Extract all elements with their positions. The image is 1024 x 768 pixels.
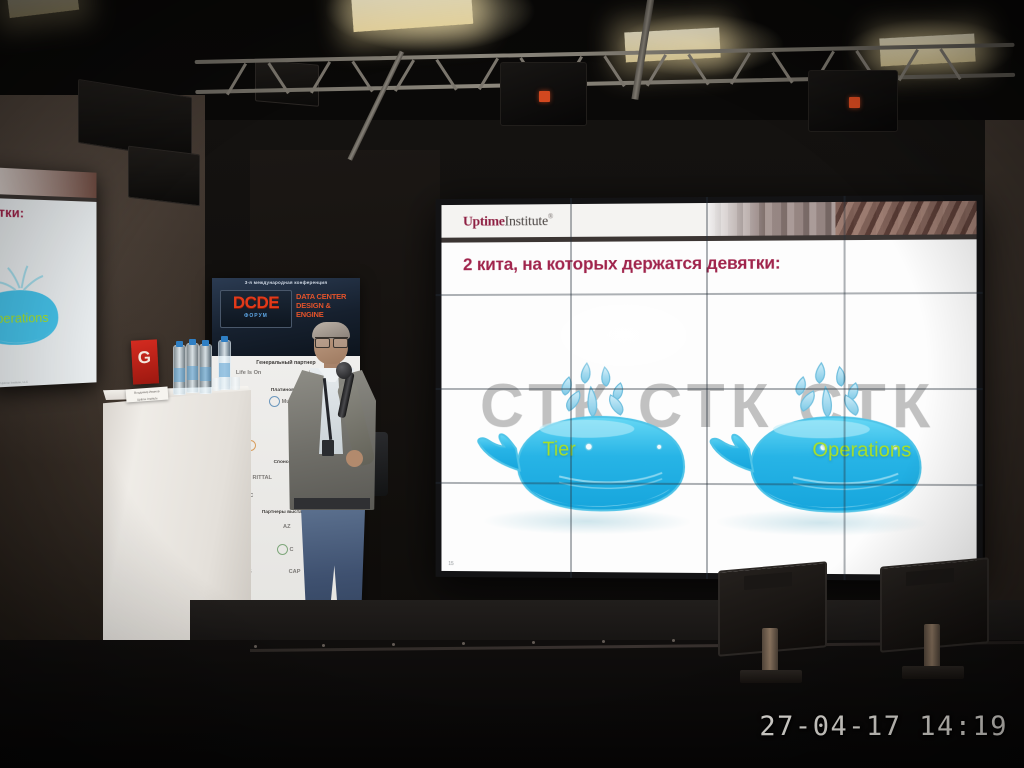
drinking-glass-icon (231, 377, 240, 390)
stage-screw (392, 643, 395, 646)
monitor-stand-neck (762, 628, 778, 672)
glasses-icon (315, 337, 348, 346)
presenter-hand (346, 450, 363, 467)
presentation-slide: UptimeInstitute® 2 кита, на которых держ… (441, 201, 976, 575)
uptime-institute-logo: UptimeInstitute® (463, 212, 553, 230)
stage-screw (254, 645, 257, 648)
banner-conference-line: 3-я международная конференция (216, 280, 356, 285)
confidence-monitor-left (718, 566, 827, 652)
slide-number: 15 (448, 561, 453, 567)
water-bottle-icon (186, 343, 199, 393)
video-wall: UptimeInstitute® 2 кита, на которых держ… (436, 195, 983, 581)
pa-speaker-icon (128, 146, 200, 207)
red-flag-glyph: G (137, 348, 151, 369)
right-stone-wall (985, 120, 1024, 640)
jbl-logo-icon (539, 91, 550, 102)
presenter-badge (322, 440, 334, 456)
water-bottle-icon (199, 344, 212, 394)
pa-speaker-icon (500, 62, 587, 126)
jbl-logo-icon (849, 97, 860, 108)
water-bottle-icon (173, 345, 186, 395)
whale-tier-label: Tier (441, 438, 688, 462)
whale-operations-reflection (717, 509, 927, 536)
monitor-stand-base (740, 670, 802, 683)
whale-operations-label: Operations (731, 439, 977, 463)
name-card-line-1: Владимир Иванов (126, 390, 168, 397)
presenter-belt (294, 498, 370, 509)
podium-name-card: Владимир Иванов Uptime Institute (126, 387, 169, 403)
slide-header-photo-right (835, 201, 976, 235)
monitor-slide-header (0, 167, 96, 198)
monitor-slide-footer: 2017 Uptime Institute, LLC (0, 380, 28, 386)
presenter (270, 322, 380, 622)
whale-tier-reflection (484, 508, 690, 535)
stage-front-face (0, 640, 1024, 768)
logo-trademark: ® (548, 213, 553, 221)
slide-title: 2 кита, на которых держатся девятки: (463, 253, 781, 276)
banner-logo-sub: ФОРУМ (221, 313, 291, 319)
whale-operations: Operations (693, 343, 955, 545)
drinking-glass-icon (212, 378, 221, 391)
sponsor-logo: Life Is On (236, 370, 262, 376)
monitor-stand-neck (924, 624, 940, 668)
stage-screw (602, 640, 605, 643)
banner-subtitle: DATA CENTER DESIGN & ENGINE (296, 292, 358, 319)
stage-screw (322, 644, 325, 647)
whale-tier: Tier (461, 343, 718, 543)
monitor-whale-icon: Operations (0, 238, 82, 374)
logo-uptime: Uptime (463, 214, 505, 229)
camera-timestamp: 27-04-17 14:19 (759, 711, 1008, 742)
pa-speaker-icon (808, 70, 898, 132)
banner-logo-text: DCDE (221, 293, 291, 313)
monitor-stand-base (902, 666, 964, 679)
monitor-whale-label: Operations (0, 310, 49, 326)
left-confidence-monitor: девятки: Operations 2017 Uptime Institut… (0, 167, 96, 388)
red-flag-banner: G (131, 339, 159, 384)
stage-screw (462, 642, 465, 645)
stage-screw (532, 641, 535, 644)
conference-photo: девятки: Operations 2017 Uptime Institut… (0, 0, 1024, 768)
ceiling-light-icon (7, 0, 79, 18)
monitor-slide-title: девятки: (0, 203, 24, 220)
microphone-head-icon (336, 362, 352, 379)
ceiling-light-icon (351, 0, 474, 32)
confidence-monitor-right (880, 562, 989, 648)
stage-screw (672, 639, 675, 642)
logo-institute: Institute (505, 214, 548, 229)
